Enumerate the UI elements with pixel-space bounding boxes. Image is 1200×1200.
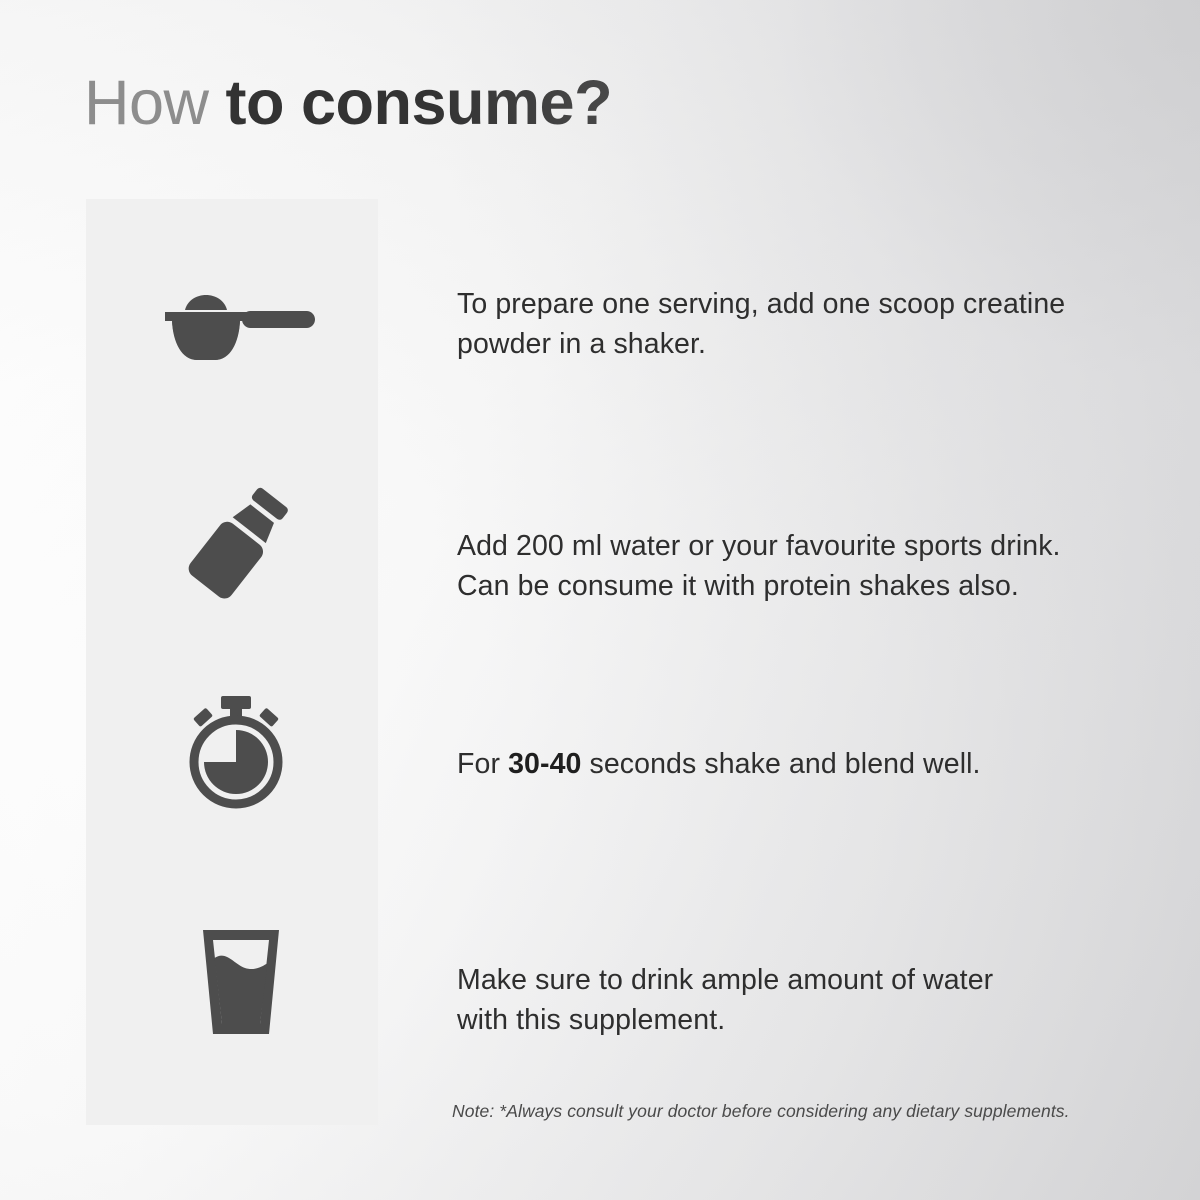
page-title-bold: to consume? bbox=[226, 68, 613, 138]
shaker-bottle-icon bbox=[160, 478, 320, 606]
step-3-duration: 30-40 bbox=[508, 748, 581, 780]
glass-of-water-icon bbox=[186, 922, 296, 1040]
step-3-suffix: seconds shake and blend well. bbox=[581, 748, 980, 780]
step-2-text: Add 200 ml water or your favourite sport… bbox=[457, 526, 1061, 606]
step-4-line-2: with this supplement. bbox=[457, 1000, 993, 1040]
step-4-line-1: Make sure to drink ample amount of water bbox=[457, 960, 993, 1000]
step-4-text: Make sure to drink ample amount of water… bbox=[457, 960, 993, 1040]
step-2-line-2: Can be consume it with protein shakes al… bbox=[457, 566, 1061, 606]
disclaimer-note: Note: *Always consult your doctor before… bbox=[452, 1099, 1070, 1123]
step-2-line-1: Add 200 ml water or your favourite sport… bbox=[457, 526, 1061, 566]
step-1-line-2: powder in a shaker. bbox=[457, 324, 1065, 364]
step-3-line-1: For 30-40 seconds shake and blend well. bbox=[457, 744, 981, 784]
measuring-scoop-icon bbox=[150, 272, 330, 372]
step-3-prefix: For bbox=[457, 748, 508, 780]
step-1-text: To prepare one serving, add one scoop cr… bbox=[457, 284, 1065, 364]
page-title: How to consume? bbox=[84, 72, 612, 135]
step-1-line-1: To prepare one serving, add one scoop cr… bbox=[457, 284, 1065, 324]
infographic-canvas: How to consume? bbox=[0, 0, 1200, 1200]
step-3-text: For 30-40 seconds shake and blend well. bbox=[457, 744, 981, 784]
stopwatch-icon bbox=[176, 692, 296, 810]
page-title-light: How bbox=[84, 68, 226, 138]
